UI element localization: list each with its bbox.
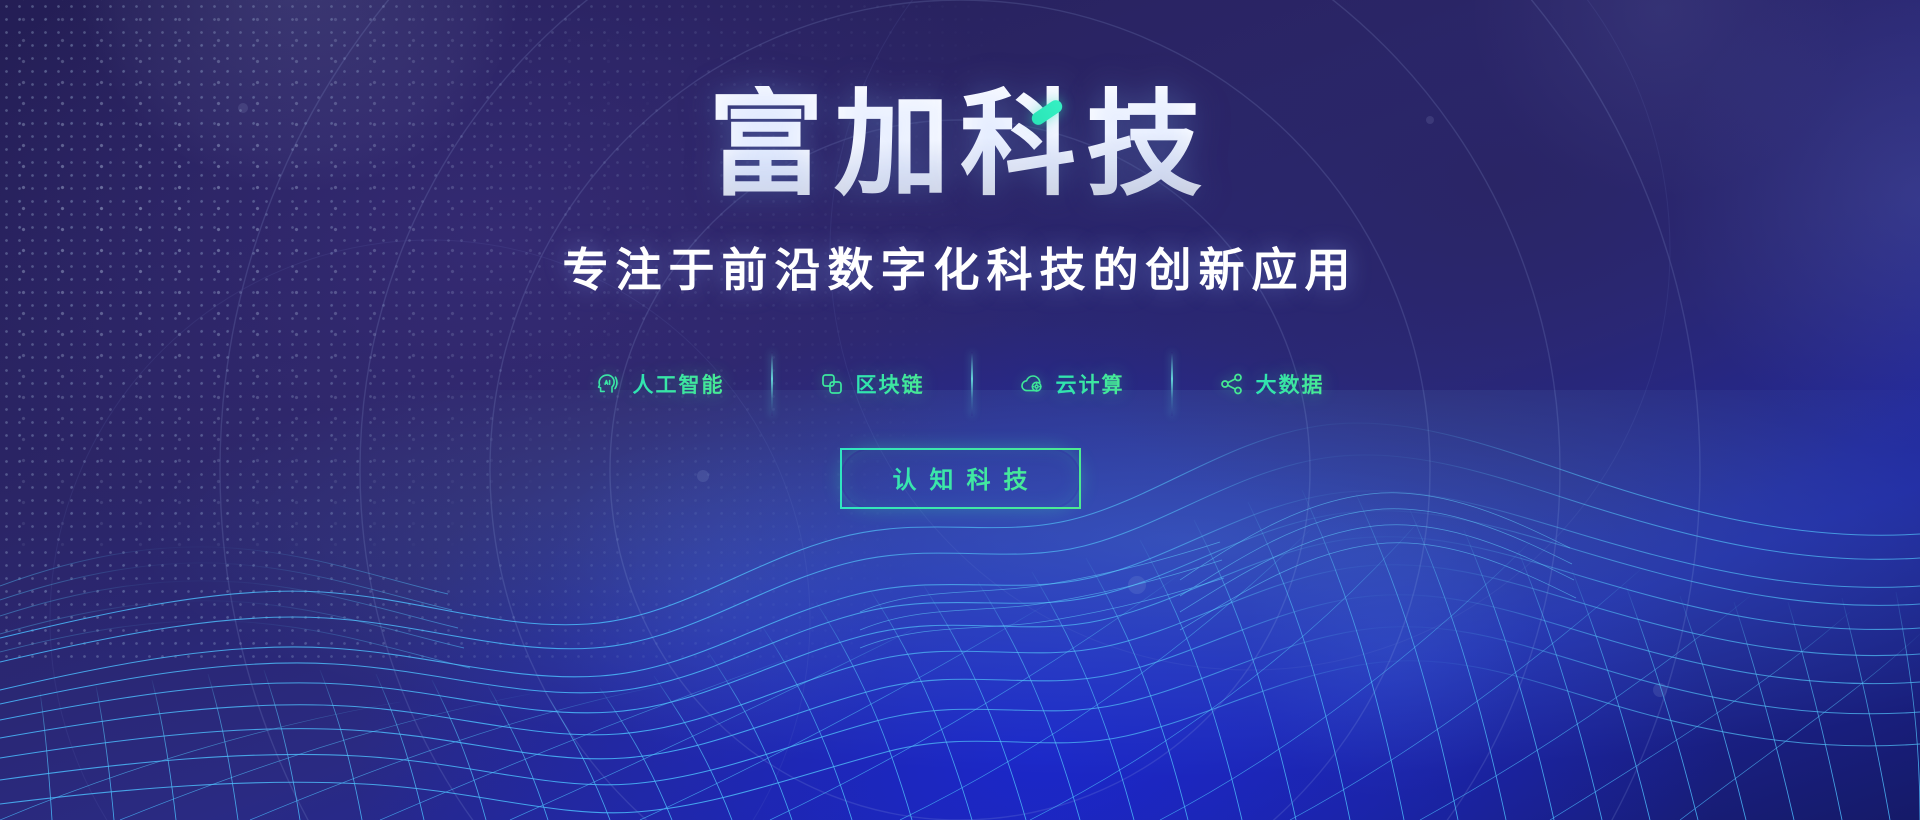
company-logo-text: 富加科技 <box>708 86 1212 202</box>
cognitive-tech-button[interactable]: 认知科技 <box>840 448 1081 509</box>
feature-tag-row: 人工智能 区块链 云计算 <box>550 352 1371 416</box>
feature-tag-blockchain[interactable]: 区块链 <box>773 369 971 399</box>
hero-content: 富加科技 专注于前沿数字化科技的创新应用 人工智能 <box>0 0 1920 820</box>
blockchain-blocks-icon <box>819 371 845 397</box>
feature-tag-label: 大数据 <box>1256 369 1325 399</box>
ai-head-icon <box>596 371 622 397</box>
hero-subtitle: 专注于前沿数字化科技的创新应用 <box>563 234 1358 300</box>
cloud-gear-icon <box>1019 371 1045 397</box>
feature-tag-label: 区块链 <box>856 369 925 399</box>
hero-banner: 富加科技 专注于前沿数字化科技的创新应用 人工智能 <box>0 0 1920 820</box>
logo-wrapper: 富加科技 <box>708 78 1212 210</box>
share-nodes-icon <box>1219 371 1245 397</box>
feature-tag-cloud[interactable]: 云计算 <box>973 369 1171 399</box>
pill-button-row: 认知科技 <box>840 448 1081 509</box>
feature-tag-ai[interactable]: 人工智能 <box>550 369 771 399</box>
feature-tag-label: 云计算 <box>1056 369 1125 399</box>
feature-tag-bigdata[interactable]: 大数据 <box>1173 369 1371 399</box>
feature-tag-label: 人工智能 <box>633 369 725 399</box>
